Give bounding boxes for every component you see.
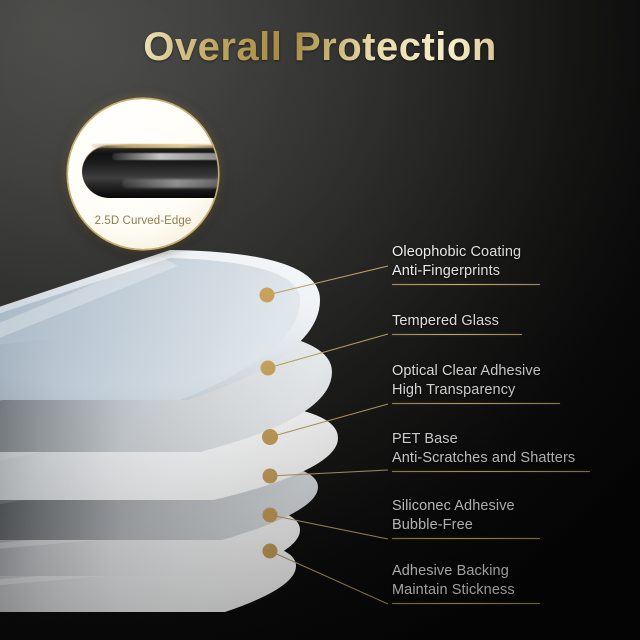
- product-infographic: 2.5D Curved-Edge Overall Protection Over…: [0, 0, 640, 640]
- callout-underline: [392, 403, 560, 404]
- callout-underline: [392, 471, 590, 472]
- callout-line-secondary: Anti-Scratches and Shatters: [392, 449, 590, 468]
- callout-line-primary: Oleophobic Coating: [392, 243, 540, 262]
- curved-edge-magnifier: 2.5D Curved-Edge: [68, 99, 218, 249]
- callout-underline: [392, 538, 540, 539]
- callout-label-adhesive-backing: Adhesive Backing Maintain Stickness: [392, 562, 540, 604]
- callout-line-primary: Tempered Glass: [392, 312, 522, 331]
- callout-label-optical-clear-adhesive: Optical Clear Adhesive High Transparency: [392, 362, 560, 404]
- callout-underline: [392, 284, 540, 285]
- layer-stack-diagram: [0, 0, 640, 640]
- magnifier-caption: 2.5D Curved-Edge: [68, 215, 218, 227]
- callout-line-secondary: Anti-Fingerprints: [392, 262, 540, 281]
- callout-line-secondary: Maintain Stickness: [392, 581, 540, 600]
- callout-line-secondary: Bubble-Free: [392, 516, 540, 535]
- glass-edge-cross-section: [82, 145, 218, 198]
- callout-label-tempered-glass: Tempered Glass: [392, 312, 522, 335]
- callout-label-siliconec-adhesive: Siliconec Adhesive Bubble-Free: [392, 497, 540, 539]
- page-title: Overall Protection: [0, 25, 640, 70]
- callout-line-primary: Siliconec Adhesive: [392, 497, 540, 516]
- callout-line-secondary: High Transparency: [392, 381, 560, 400]
- callout-line-primary: Optical Clear Adhesive: [392, 362, 560, 381]
- callout-underline: [392, 334, 522, 335]
- glass-edge-gold-highlight: [92, 144, 218, 148]
- callout-line-primary: Adhesive Backing: [392, 562, 540, 581]
- callout-label-oleophobic-coating: Oleophobic Coating Anti-Fingerprints: [392, 243, 540, 285]
- callout-label-pet-base: PET Base Anti-Scratches and Shatters: [392, 430, 590, 472]
- callout-underline: [392, 603, 540, 604]
- callout-line-primary: PET Base: [392, 430, 590, 449]
